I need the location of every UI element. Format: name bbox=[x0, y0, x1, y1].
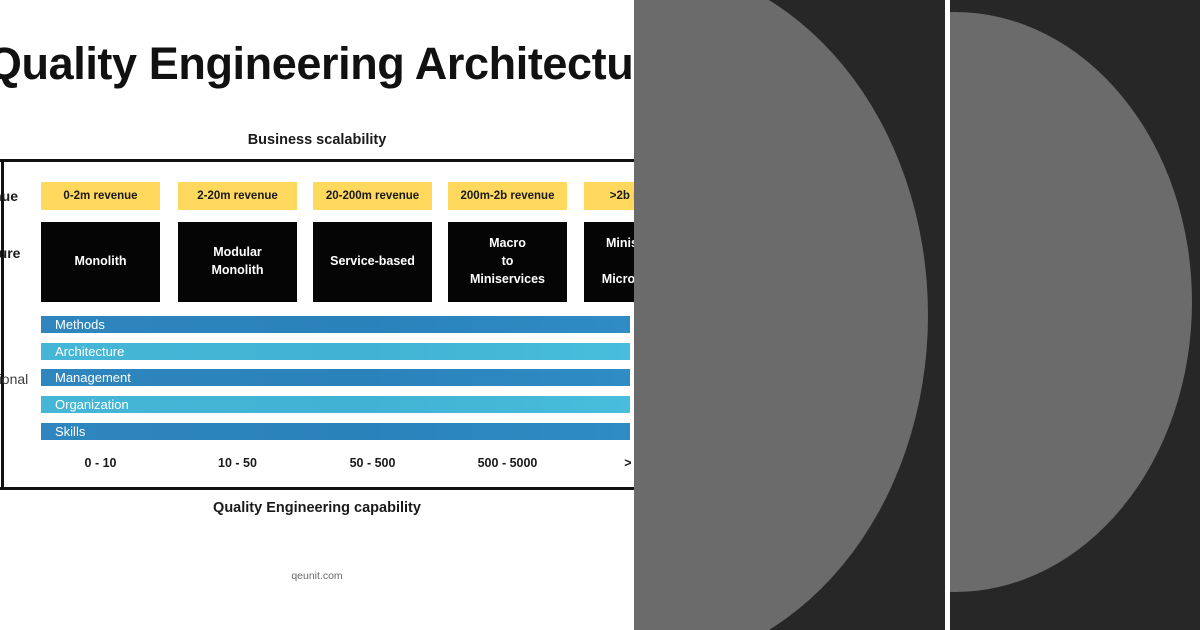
revenue-tier-box: 200m-2b revenue bbox=[448, 182, 567, 210]
frame-rule-left bbox=[1, 159, 4, 490]
architecture-style-box: Service-based bbox=[313, 222, 432, 302]
dark-panel-right bbox=[950, 0, 1200, 630]
capability-bar: Architecture bbox=[41, 343, 630, 360]
capability-tick: > 5000 bbox=[584, 454, 634, 472]
source-attribution: qeunit.com bbox=[0, 570, 634, 582]
capability-bar: Organization bbox=[41, 396, 630, 413]
gray-circle-shape bbox=[634, 0, 928, 630]
row-label-architecture: Architecture bbox=[0, 245, 18, 261]
capability-bar: Methods bbox=[41, 316, 630, 333]
frame-rule-top bbox=[0, 159, 634, 162]
gray-circle-shape bbox=[950, 12, 1192, 592]
capability-tick: 50 - 500 bbox=[313, 454, 432, 472]
row-label-revenue: Revenue bbox=[0, 188, 18, 204]
frame-rule-bottom bbox=[0, 487, 634, 490]
row-label-organizational: Organizational bbox=[0, 371, 18, 387]
revenue-tier-box: 20-200m revenue bbox=[313, 182, 432, 210]
infographic-canvas: Quality Engineering Architecture Busines… bbox=[0, 0, 634, 630]
capability-tick: 500 - 5000 bbox=[448, 454, 567, 472]
capability-tick: 0 - 10 bbox=[41, 454, 160, 472]
revenue-tier-box: 2-20m revenue bbox=[178, 182, 297, 210]
architecture-style-box: Monolith bbox=[41, 222, 160, 302]
dark-panel-left bbox=[634, 0, 945, 630]
capability-bar: Skills bbox=[41, 423, 630, 440]
bottom-axis-label: Quality Engineering capability bbox=[0, 500, 634, 516]
page-title: Quality Engineering Architecture bbox=[0, 38, 634, 90]
architecture-style-box: ModularMonolith bbox=[178, 222, 297, 302]
capability-bar: Management bbox=[41, 369, 630, 386]
architecture-style-box: MacrotoMiniservices bbox=[448, 222, 567, 302]
architecture-style-box: MiniservicestoMicroservices bbox=[584, 222, 634, 302]
revenue-tier-box: 0-2m revenue bbox=[41, 182, 160, 210]
top-axis-label: Business scalability bbox=[0, 132, 634, 148]
revenue-tier-box: >2b revenue bbox=[584, 182, 634, 210]
capability-tick: 10 - 50 bbox=[178, 454, 297, 472]
